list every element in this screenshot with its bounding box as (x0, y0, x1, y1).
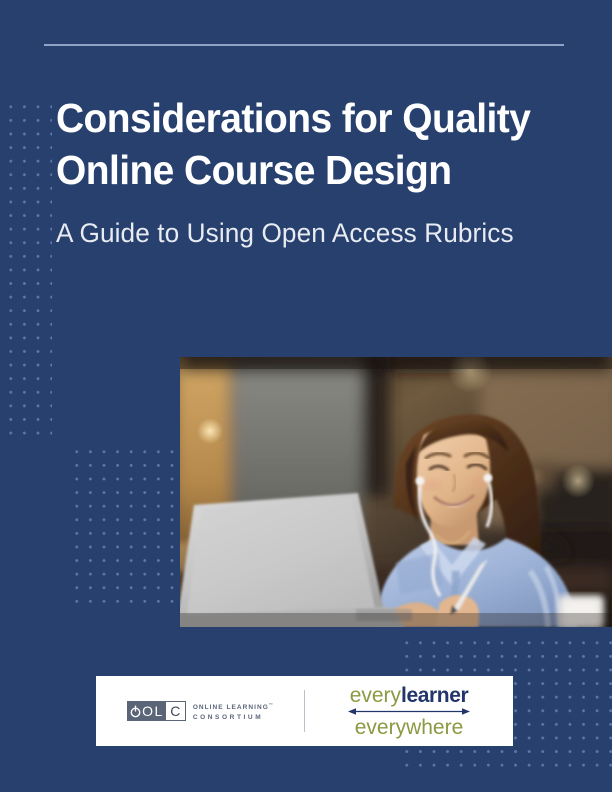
hero-photo (180, 357, 612, 627)
dot-pattern-middle (70, 445, 182, 610)
ele-word-every: every (350, 684, 401, 707)
olc-mark-left: O L (127, 701, 166, 721)
olc-logo: O L C ONLINE LEARNING™ CONSORTIUM (96, 676, 304, 746)
logo-bar: O L C ONLINE LEARNING™ CONSORTIUM everyl… (96, 676, 513, 746)
olc-letter-l: L (155, 704, 163, 718)
every-learner-everywhere-logo: everylearner everywhere (305, 676, 513, 746)
trademark-symbol: ™ (269, 702, 273, 707)
olc-letter-o: O (142, 704, 153, 718)
olc-name-line-2: CONSORTIUM (193, 713, 273, 722)
report-cover-page: Considerations for Quality Online Course… (0, 0, 612, 792)
hero-photo-illustration (180, 357, 612, 627)
ele-lockup: everylearner everywhere (348, 685, 470, 738)
dot-pattern-left (4, 100, 52, 440)
olc-wordmark: ONLINE LEARNING™ CONSORTIUM (193, 700, 273, 721)
ele-word-learner: learner (401, 684, 468, 707)
olc-lockup: O L C ONLINE LEARNING™ CONSORTIUM (127, 700, 273, 721)
double-arrow-rule-icon (348, 707, 470, 716)
page-subtitle: A Guide to Using Open Access Rubrics (56, 196, 560, 250)
power-icon (130, 705, 141, 718)
ele-top-line: everylearner (350, 685, 469, 706)
olc-name-line-1: ONLINE LEARNING™ (193, 700, 273, 712)
top-divider-rule (44, 44, 564, 46)
olc-mark: O L C (127, 701, 186, 721)
title-block: Considerations for Quality Online Course… (56, 92, 576, 250)
olc-letter-c: C (166, 701, 186, 721)
page-title: Considerations for Quality Online Course… (56, 92, 550, 196)
ele-word-everywhere: everywhere (355, 717, 464, 738)
